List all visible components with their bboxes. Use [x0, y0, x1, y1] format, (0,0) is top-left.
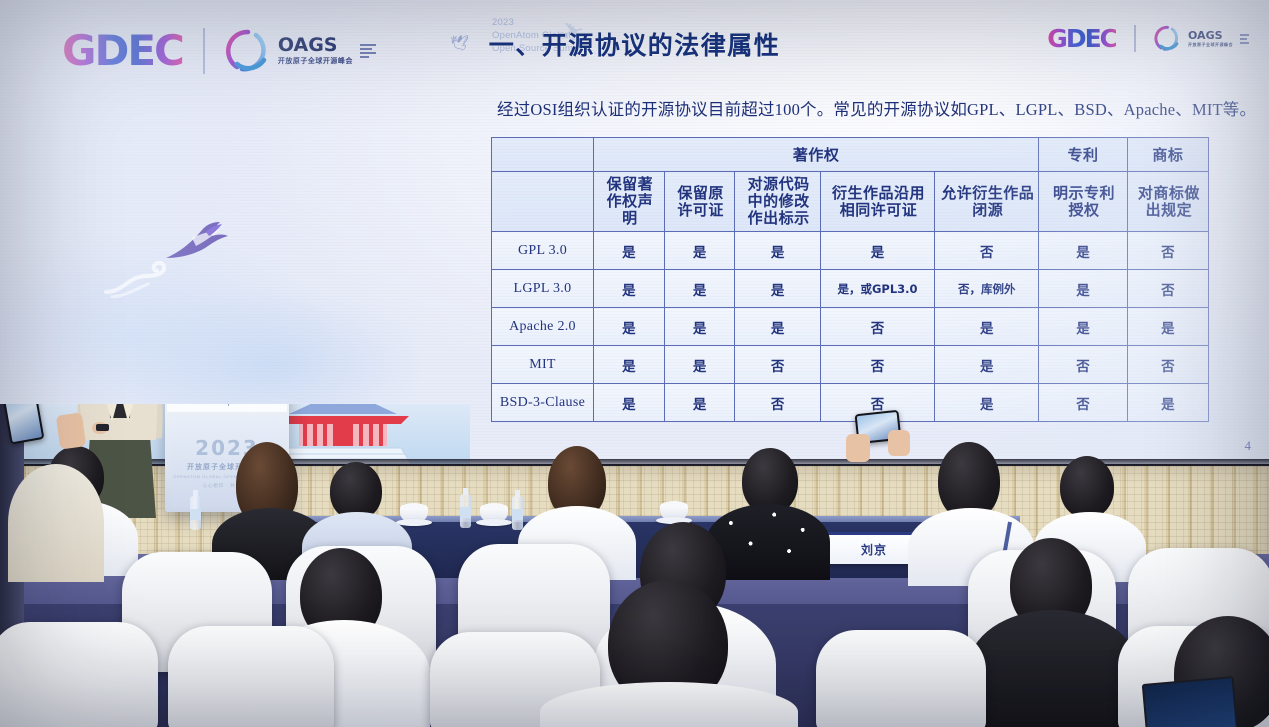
row-license-name: Apache 2.0	[492, 308, 594, 346]
cell: 是	[820, 232, 934, 270]
table-row: Apache 2.0 是 是 是 否 是 是 是	[492, 308, 1209, 346]
brand-logo-lockup-corner: GDEC OAGS 开放原子全球开源峰会	[1047, 24, 1249, 53]
water-bottle	[190, 496, 201, 530]
cell: 是	[593, 346, 664, 384]
table-row: LGPL 3.0 是 是 是 是，或GPL3.0 否，库例外 是 否	[492, 270, 1209, 308]
cell: 是	[735, 232, 820, 270]
chair	[168, 626, 334, 727]
cell: 否	[1127, 270, 1208, 308]
wave-swirl-decoration	[104, 258, 190, 303]
cell: 是	[1039, 270, 1127, 308]
podium-logo-divider	[228, 404, 229, 406]
col-header-3: 对源代码中的修改作出标示	[735, 172, 820, 232]
cell: 否，库例外	[935, 270, 1039, 308]
raised-hand	[846, 434, 870, 462]
group-header-blank	[492, 138, 594, 172]
raised-hand	[56, 412, 86, 449]
oags-en-label-small: OAGS	[1188, 30, 1233, 41]
water-bottle	[512, 496, 523, 530]
projection-screen: GDEC	[0, 0, 1269, 468]
slide-lead-text: 经过OSI组织认证的开源协议目前超过100个。常见的开源协议如GPL、LGPL、…	[497, 96, 1242, 120]
table-head: 著作权 专利 商标 保留著作权声明 保留原许可证 对源代码中的修改作出标示 衍生…	[492, 138, 1209, 232]
oags-bars-icon-small	[1240, 34, 1249, 44]
cell: 是	[593, 308, 664, 346]
screenshot-root: GDEC	[0, 0, 1269, 727]
group-header-copyright: 著作权	[593, 138, 1038, 172]
oags-ring-icon-small	[1154, 25, 1181, 52]
table-row: MIT 是 是 否 否 是 否 否	[492, 346, 1209, 384]
chair	[816, 630, 986, 727]
row-license-name: MIT	[492, 346, 594, 384]
oags-text-block-small: OAGS 开放原子全球开源峰会	[1188, 30, 1233, 47]
oags-cn-label-small: 开放原子全球开源峰会	[1188, 43, 1233, 47]
gdec-logo-small: GDEC	[1047, 24, 1116, 53]
col-header-6: 明示专利授权	[1039, 172, 1127, 232]
cell: 是	[664, 346, 735, 384]
group-header-patent: 专利	[1039, 138, 1127, 172]
oags-logo-small: OAGS 开放原子全球开源峰会	[1154, 25, 1249, 52]
cell: 否	[1127, 232, 1208, 270]
podium-gdec-logo: GDEC	[189, 404, 221, 407]
cell: 是	[735, 308, 820, 346]
cell: 否	[735, 346, 820, 384]
podium-logo-plate: GDEC OAGS	[167, 404, 287, 412]
cell: 是	[1039, 232, 1127, 270]
cell: 否	[935, 232, 1039, 270]
audience-torso-beige	[8, 464, 104, 582]
chair	[0, 622, 158, 727]
cell: 是	[664, 232, 735, 270]
audience-torso	[968, 610, 1138, 727]
cell: 是	[593, 232, 664, 270]
name-tent-text: 刘京	[861, 541, 887, 558]
tablet-device	[1142, 676, 1239, 727]
col-header-2: 保留原许可证	[664, 172, 735, 232]
cell: 否	[820, 308, 934, 346]
cell: 否	[1039, 346, 1127, 384]
podium-oags-logo: OAGS	[236, 404, 266, 408]
col-header-0	[492, 172, 594, 232]
cell: 否	[820, 346, 934, 384]
cell: 是	[1039, 308, 1127, 346]
teacup	[660, 502, 688, 524]
audience-head	[1060, 456, 1114, 518]
cell: 是，或GPL3.0	[820, 270, 934, 308]
col-header-4: 衍生作品沿用相同许可证	[820, 172, 934, 232]
cell: 是	[664, 308, 735, 346]
conference-room: GDEC OAGS 2023 开放原子全球开源峰会 OPENATOM GLOBA…	[0, 404, 1269, 727]
table-body: GPL 3.0 是 是 是 是 否 是 否 LGPL 3.0 是 是 是	[492, 232, 1209, 422]
cell: 是	[935, 308, 1039, 346]
license-comparison-table: 著作权 专利 商标 保留著作权声明 保留原许可证 对源代码中的修改作出标示 衍生…	[491, 137, 1209, 422]
name-tent-card: 刘京	[828, 532, 920, 564]
table-group-header-row: 著作权 专利 商标	[492, 138, 1209, 172]
table-row: GPL 3.0 是 是 是 是 否 是 否	[492, 232, 1209, 270]
water-bottle	[460, 494, 471, 528]
podium-oags-ring-icon	[236, 404, 249, 408]
row-license-name: GPL 3.0	[492, 232, 594, 270]
teacup	[400, 504, 428, 526]
license-table-wrapper: 著作权 专利 商标 保留著作权声明 保留原许可证 对源代码中的修改作出标示 衍生…	[491, 137, 1209, 422]
col-header-1: 保留著作权声明	[593, 172, 664, 232]
logo-divider-small	[1134, 25, 1136, 52]
col-header-5: 允许衍生作品闭源	[935, 172, 1039, 232]
cell: 是	[735, 270, 820, 308]
cell: 是	[593, 270, 664, 308]
table-column-header-row: 保留著作权声明 保留原许可证 对源代码中的修改作出标示 衍生作品沿用相同许可证 …	[492, 172, 1209, 232]
group-header-trademark: 商标	[1127, 138, 1208, 172]
col-header-7: 对商标做出规定	[1127, 172, 1208, 232]
cell: 是	[935, 346, 1039, 384]
row-license-name: LGPL 3.0	[492, 270, 594, 308]
cell: 否	[1127, 346, 1208, 384]
raised-hand	[888, 430, 910, 456]
teacup	[480, 504, 508, 526]
cell: 是	[664, 270, 735, 308]
cell: 是	[1127, 308, 1208, 346]
